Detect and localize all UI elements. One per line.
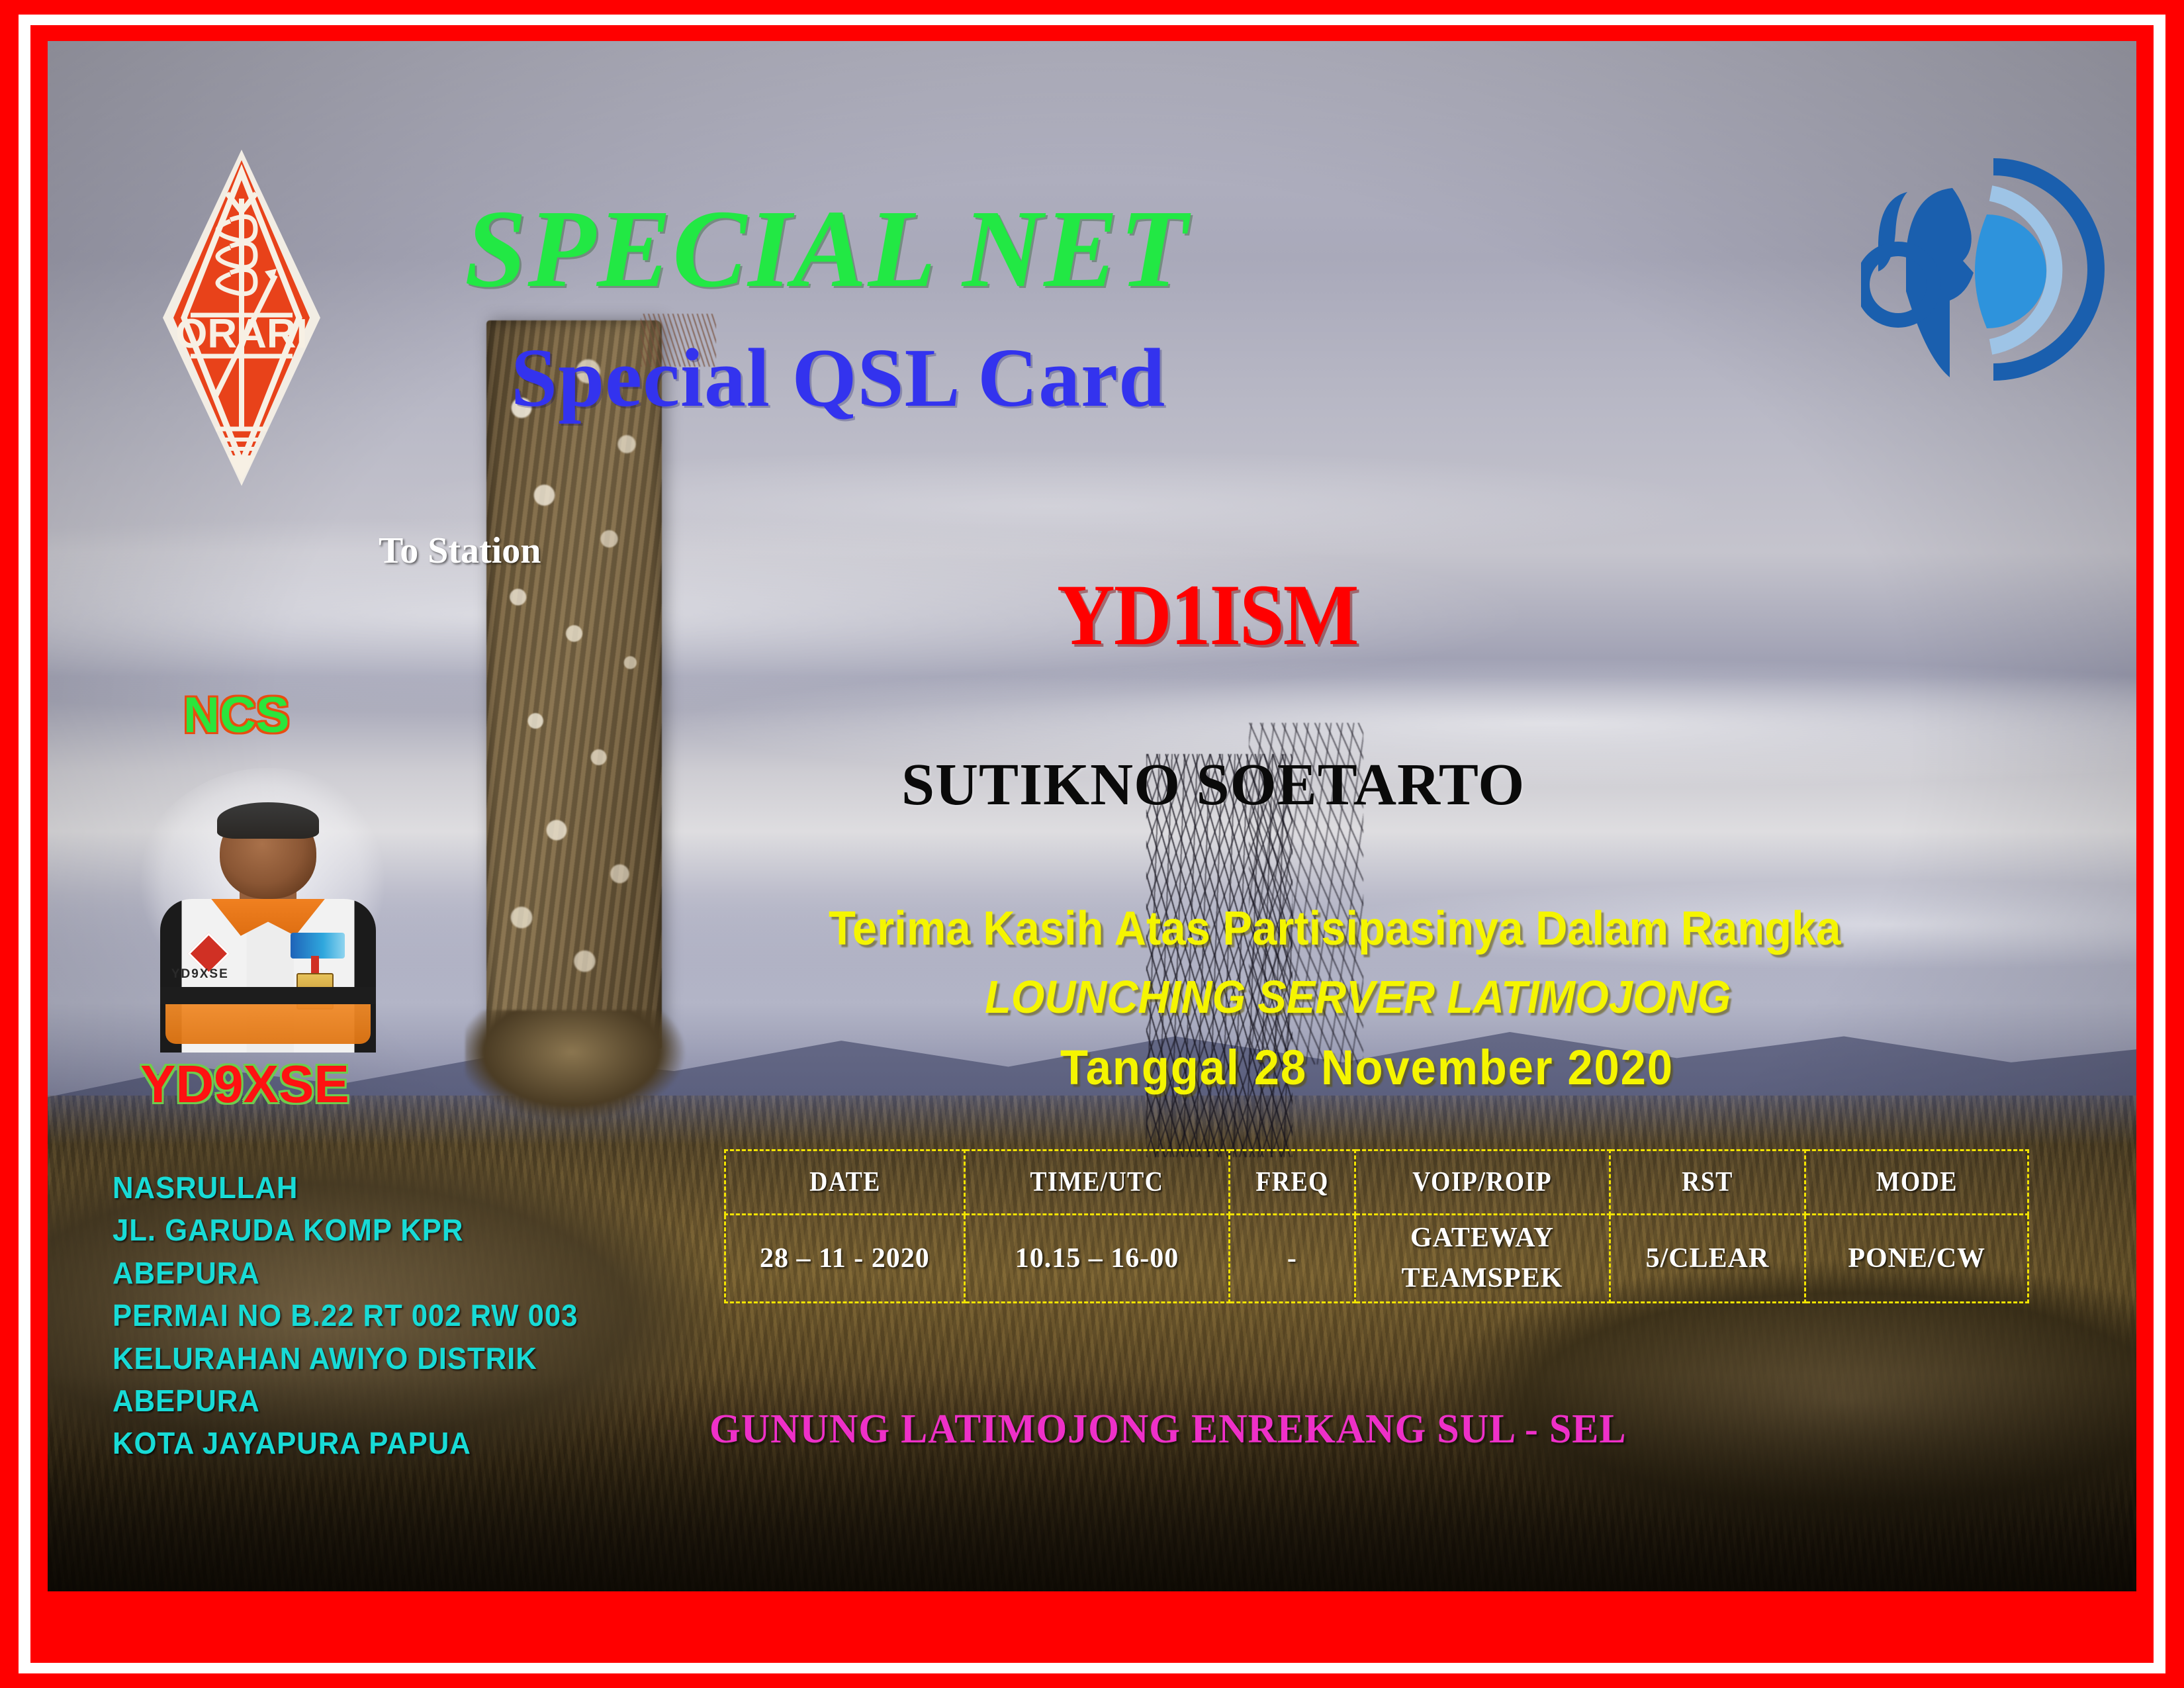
- card-photo-area: ORARI SPECIAL NET Special QSL Card To St…: [48, 41, 2136, 1591]
- to-station-label: To Station: [379, 530, 541, 572]
- portrait-hair: [217, 802, 320, 839]
- address-line: ABEPURA: [113, 1252, 578, 1294]
- col-header-voip: VOIP/ROIP: [1367, 1150, 1597, 1215]
- page-subtitle: Special QSL Card: [511, 331, 1165, 426]
- cell-date: 28 – 11 - 2020: [725, 1215, 965, 1303]
- portrait-belt: [160, 987, 377, 1004]
- cell-rst: 5/CLEAR: [1610, 1215, 1805, 1303]
- col-header-freq: FREQ: [1236, 1150, 1348, 1215]
- page-title: SPECIAL NET: [465, 185, 1189, 313]
- address-line: PERMAI NO B.22 RT 002 RW 003: [113, 1294, 578, 1336]
- cell-mode: PONE/CW: [1805, 1215, 2028, 1303]
- operator-name: SUTIKNO SOETARTO: [901, 751, 1525, 819]
- cell-voip-line2: TEAMSPEK: [1357, 1258, 1608, 1299]
- event-location: GUNUNG LATIMOJONG ENREKANG SUL - SEL: [709, 1406, 1626, 1453]
- qso-log-table: DATE TIME/UTC FREQ VOIP/ROIP RST MODE 28…: [724, 1149, 2029, 1303]
- ncs-callsign: YD9XSE: [140, 1054, 349, 1115]
- address-line: ABEPURA: [113, 1380, 578, 1422]
- cell-voip: GATEWAY TEAMSPEK: [1355, 1215, 1610, 1303]
- cell-time: 10.15 – 16-00: [964, 1215, 1230, 1303]
- portrait-shirt-callsign: YD9XSE: [171, 967, 229, 982]
- portrait-sash: [165, 1004, 371, 1044]
- orari-diamond-logo: ORARI: [159, 146, 324, 490]
- station-callsign: YD1ISM: [1057, 564, 1358, 665]
- thanks-line-3: Tanggal 28 November 2020: [1060, 1039, 2051, 1096]
- col-header-mode: MODE: [1817, 1150, 2017, 1215]
- address-line: JL. GARUDA KOMP KPR: [113, 1209, 578, 1251]
- table-row: 28 – 11 - 2020 10.15 – 16-00 - GATEWAY T…: [725, 1215, 2028, 1303]
- thanks-line-2: LOUNCHING SERVER LATIMOJONG: [985, 970, 2046, 1023]
- cell-freq: -: [1230, 1215, 1355, 1303]
- qsl-card: ORARI SPECIAL NET Special QSL Card To St…: [0, 0, 2184, 1688]
- ncs-operator-photo: YD9XSE: [126, 768, 410, 1053]
- address-line: NASRULLAH: [113, 1166, 578, 1209]
- thanks-line-1: Terima Kasih Atas Partisipasinya Dalam R…: [829, 902, 2035, 956]
- col-header-time: TIME/UTC: [978, 1150, 1216, 1215]
- col-header-date: DATE: [737, 1150, 953, 1215]
- col-header-rst: RST: [1619, 1150, 1796, 1215]
- orari-logo-text: ORARI: [175, 311, 308, 357]
- table-header-row: DATE TIME/UTC FREQ VOIP/ROIP RST MODE: [725, 1150, 2028, 1215]
- address-line: KELURAHAN AWIYO DISTRIK: [113, 1337, 578, 1380]
- blue-headset-profile-logo: [1861, 140, 2119, 399]
- cell-voip-line1: GATEWAY: [1357, 1218, 1608, 1258]
- portrait-chest-logo: [291, 933, 345, 959]
- mailing-address: NASRULLAH JL. GARUDA KOMP KPR ABEPURA PE…: [113, 1166, 602, 1465]
- address-line: KOTA JAYAPURA PAPUA: [113, 1422, 578, 1464]
- thanks-block: Terima Kasih Atas Partisipasinya Dalam R…: [829, 902, 2126, 1096]
- ncs-label: NCS: [183, 686, 289, 744]
